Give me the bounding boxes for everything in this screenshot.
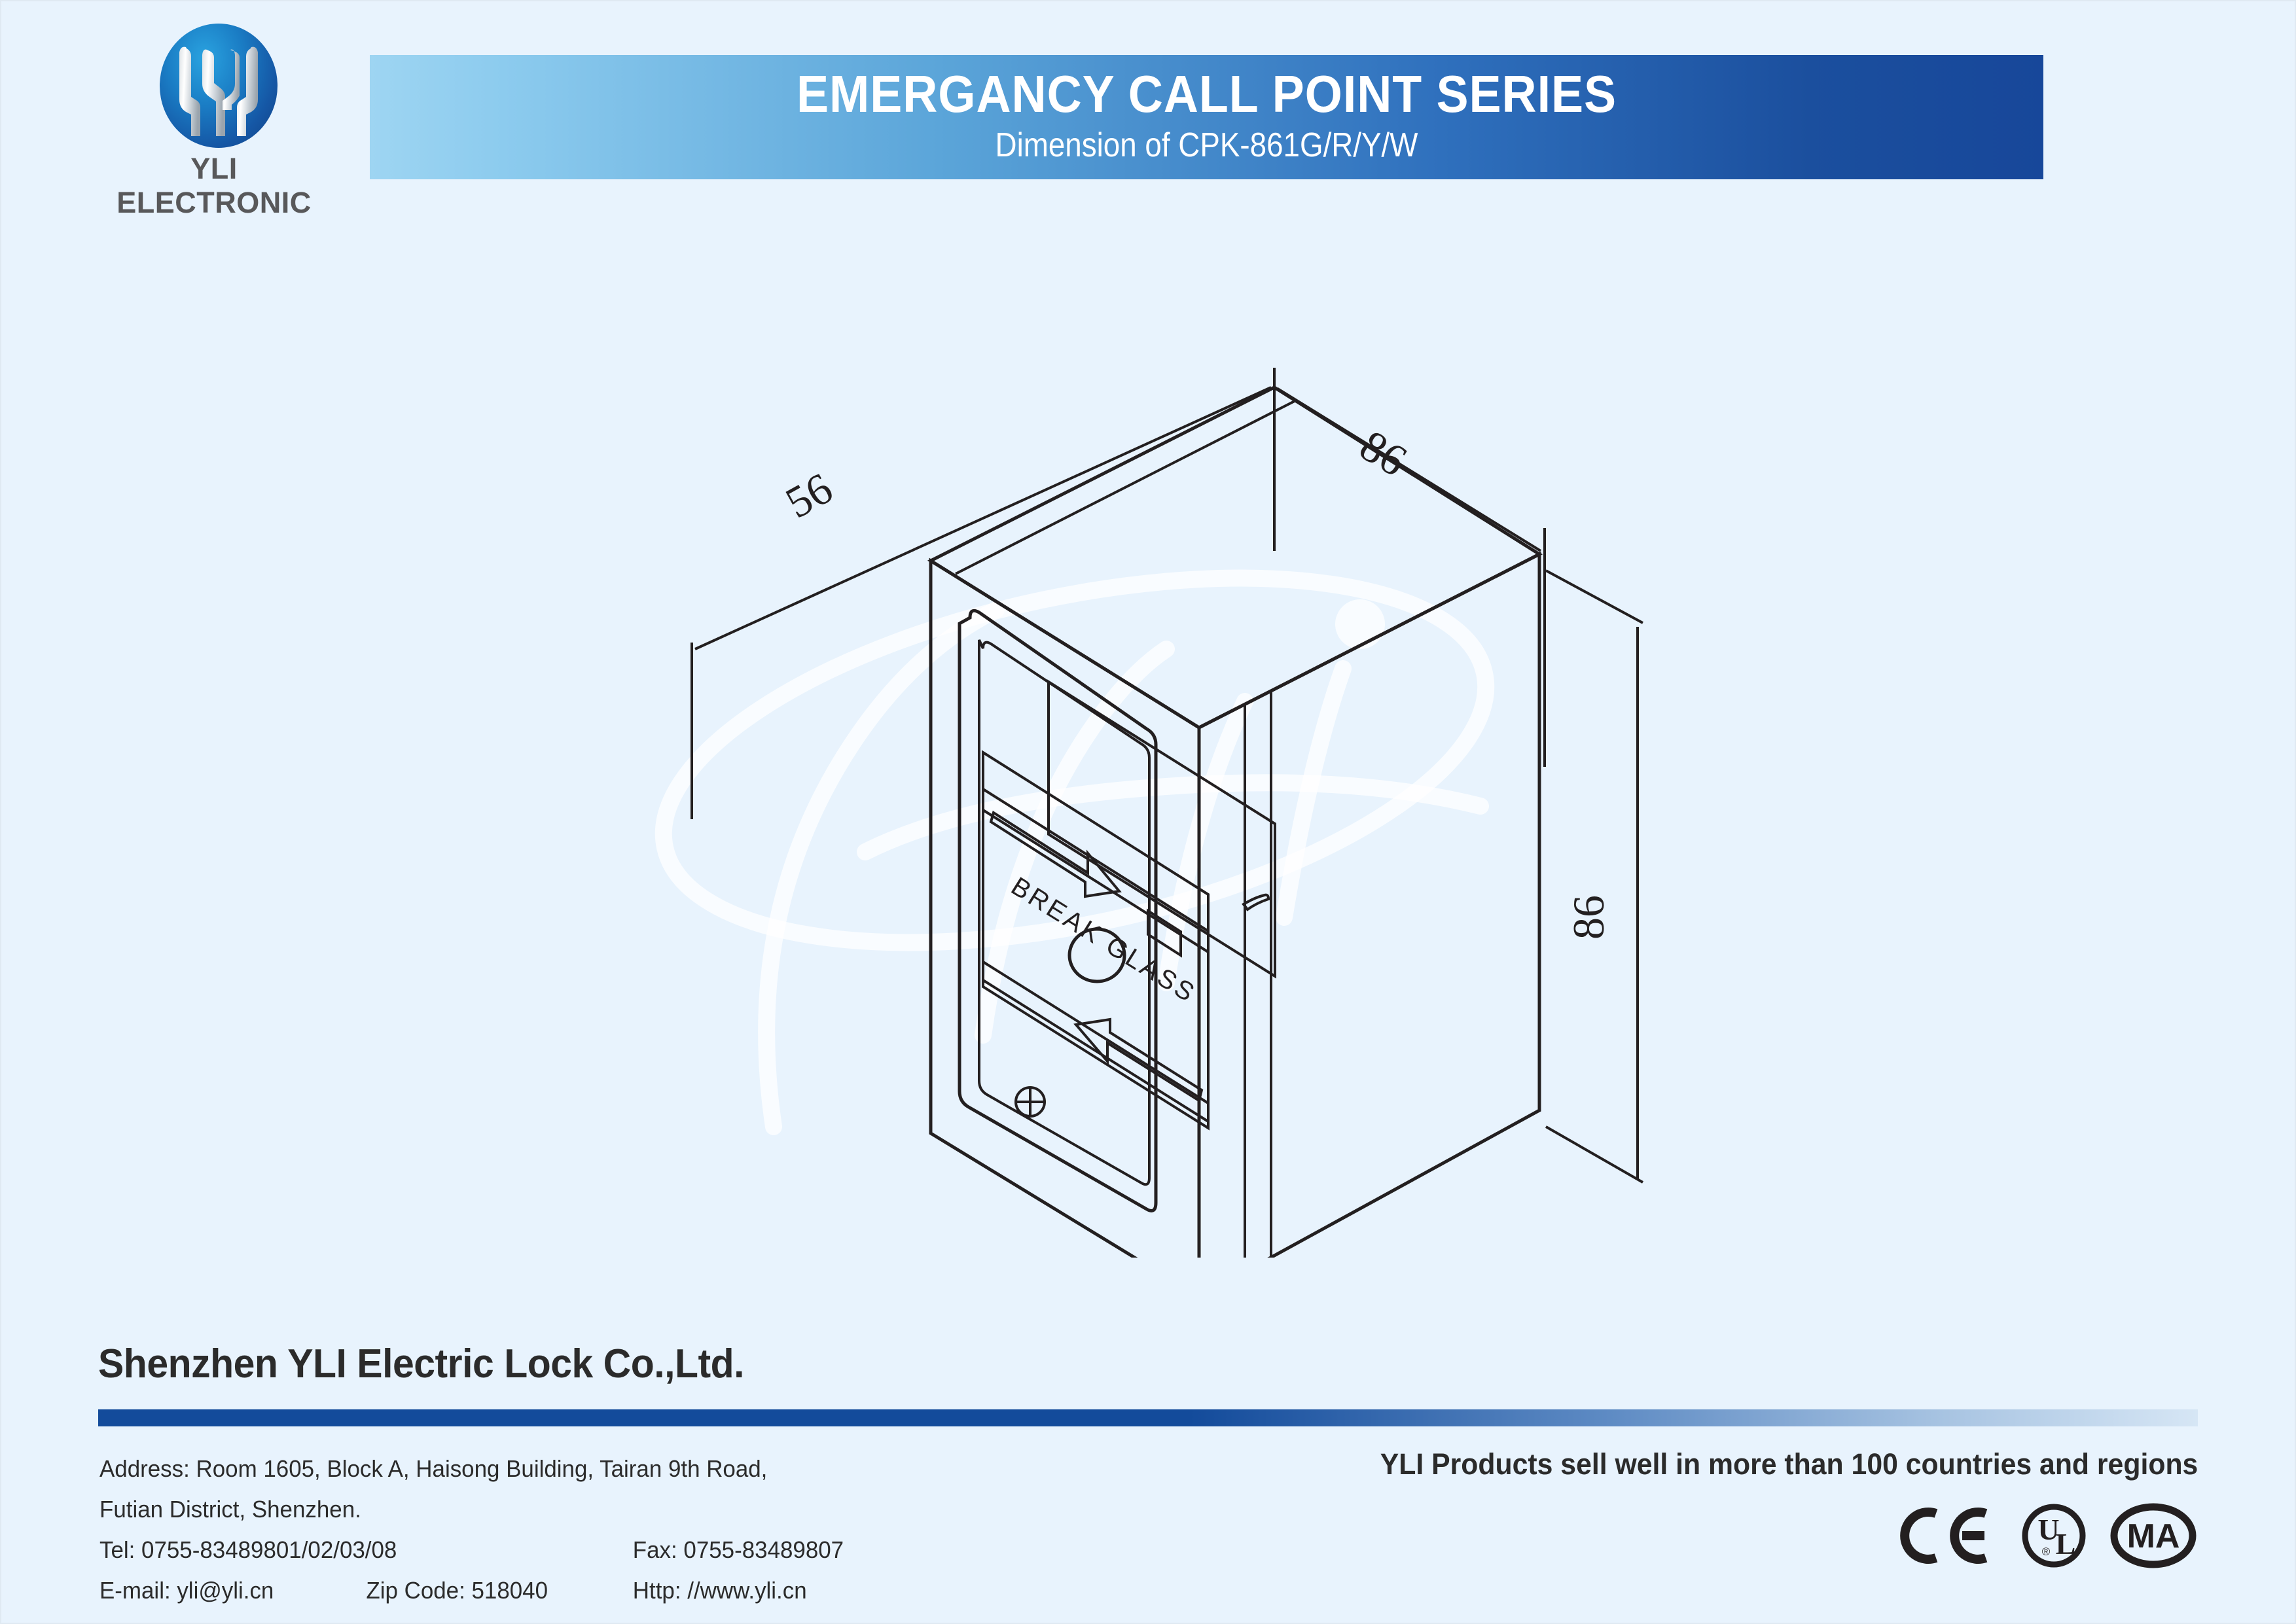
svg-text:L: L <box>2056 1527 2076 1561</box>
page-title: EMERGANCY CALL POINT SERIES <box>437 64 1976 124</box>
datasheet-page: YLI ELECTRONIC EMERGANCY CALL POINT SERI… <box>1 1 2295 1623</box>
yli-y-logo-icon <box>160 24 278 148</box>
contact-block: Address: Room 1605, Block A, Haisong Bui… <box>99 1449 1052 1611</box>
page-subtitle: Dimension of CPK-861G/R/Y/W <box>470 126 1943 165</box>
dimension-label-86-width: 86 <box>1352 420 1415 485</box>
ma-mark-icon: MA <box>2110 1502 2197 1570</box>
company-name: Shenzhen YLI Electric Lock Co.,Ltd. <box>98 1341 744 1387</box>
dimension-label-56: 56 <box>778 463 840 527</box>
brand-logo: YLI ELECTRONIC <box>106 14 322 198</box>
isometric-drawing-svg: 56 86 86 BREAK GLASS <box>590 368 1703 1258</box>
certification-marks: U L ® MA <box>1899 1500 2197 1572</box>
address-line-1: Address: Room 1605, Block A, Haisong Bui… <box>99 1449 1052 1489</box>
address-line-2: Futian District, Shenzhen. <box>99 1489 1052 1530</box>
fax-value: Fax: 0755-83489807 <box>633 1536 844 1563</box>
ce-mark-icon <box>1899 1503 1998 1568</box>
product-dimension-drawing: 56 86 86 BREAK GLASS <box>590 368 1703 1258</box>
zip-value: Zip Code: 518040 <box>366 1570 632 1611</box>
dimension-label-86-height: 86 <box>1564 895 1613 940</box>
website-value[interactable]: Http: //www.yli.cn <box>633 1577 807 1604</box>
tel-value: Tel: 0755-83489801/02/03/08 <box>99 1530 633 1570</box>
ul-mark-icon: U L ® <box>2020 1502 2088 1570</box>
svg-text:MA: MA <box>2127 1517 2180 1555</box>
header-banner: EMERGANCY CALL POINT SERIES Dimension of… <box>370 55 2043 179</box>
footer-divider <box>98 1409 2198 1426</box>
svg-text:®: ® <box>2042 1545 2051 1558</box>
page-header: YLI ELECTRONIC EMERGANCY CALL POINT SERI… <box>1 1 2296 198</box>
marketing-tagline: YLI Products sell well in more than 100 … <box>1380 1447 2198 1481</box>
email-value[interactable]: E-mail: yli@yli.cn <box>99 1570 366 1611</box>
brand-logo-text: YLI ELECTRONIC <box>106 152 322 220</box>
